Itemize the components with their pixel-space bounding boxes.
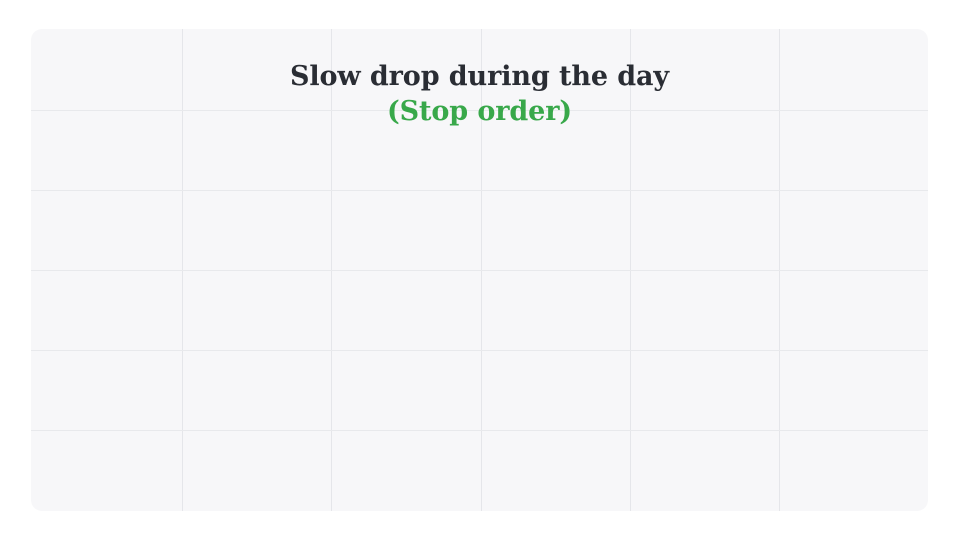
screenshot-canvas: Slow drop during the day (Stop order) — [0, 0, 960, 540]
plot-area — [31, 29, 928, 511]
chart-panel: Slow drop during the day (Stop order) — [31, 29, 928, 511]
